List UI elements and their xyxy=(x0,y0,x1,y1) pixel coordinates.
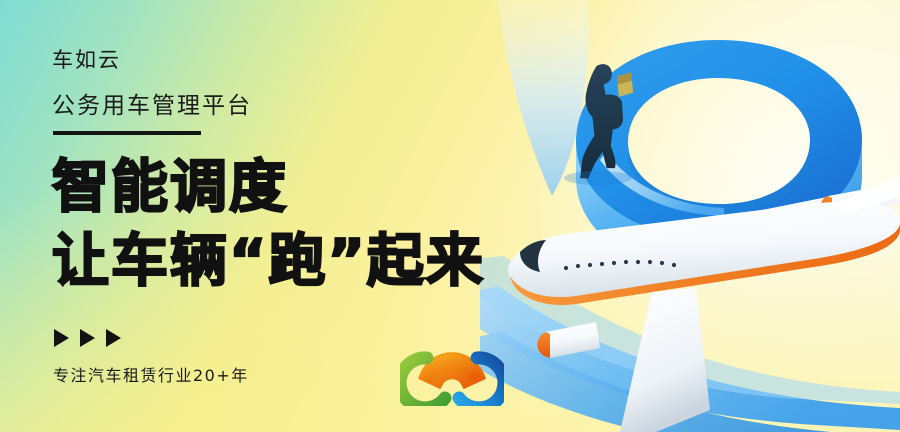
promo-banner: 车如云 公务用车管理平台 智能调度 让车辆“跑”起来 专注汽车租赁行业20+年 xyxy=(0,0,900,432)
headline-line-2: 让车辆“跑”起来 xyxy=(52,224,485,298)
triangle-icon-2 xyxy=(80,329,95,347)
headline: 智能调度 让车辆“跑”起来 xyxy=(52,150,485,298)
headline-line-1: 智能调度 xyxy=(52,154,288,220)
triangle-icon-3 xyxy=(106,329,121,347)
brand-name: 车如云 xyxy=(52,44,121,74)
brand-subtitle: 公务用车管理平台 xyxy=(52,86,252,120)
bullet-triangles xyxy=(54,329,121,347)
text-column: 车如云 公务用车管理平台 智能调度 让车辆“跑”起来 专注汽车租赁行业20+年 xyxy=(52,0,612,432)
cloud-logo xyxy=(400,332,504,406)
divider-rule xyxy=(53,131,201,135)
tagline: 专注汽车租赁行业20+年 xyxy=(53,362,249,386)
triangle-icon-1 xyxy=(54,329,69,347)
